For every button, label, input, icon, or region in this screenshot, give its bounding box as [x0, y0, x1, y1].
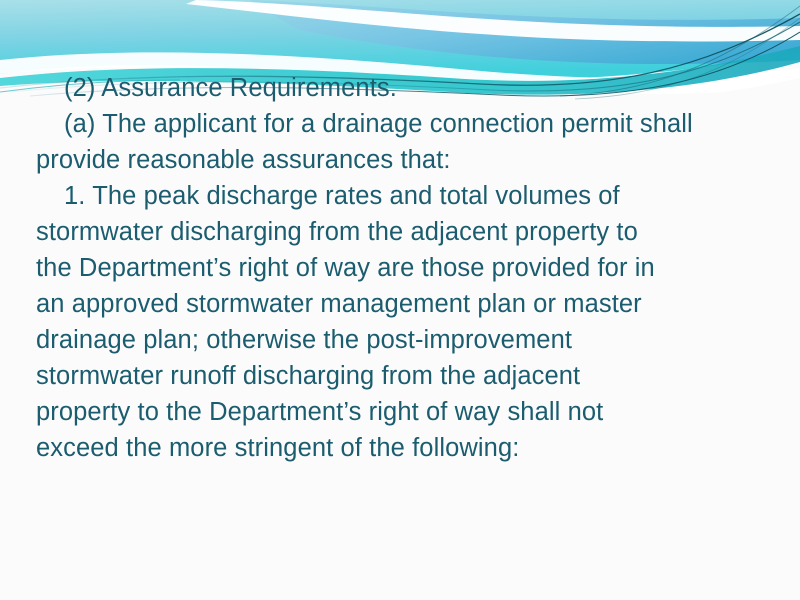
slide-body-text: (2) Assurance Requirements. (a) The appl…: [36, 70, 780, 466]
slide-canvas: (2) Assurance Requirements. (a) The appl…: [0, 0, 800, 600]
body-line: (a) The applicant for a drainage connect…: [36, 106, 780, 142]
body-line: stormwater runoff discharging from the a…: [36, 358, 780, 394]
body-line: drainage plan; otherwise the post-improv…: [36, 322, 780, 358]
body-line: (2) Assurance Requirements.: [36, 70, 780, 106]
body-line: an approved stormwater management plan o…: [36, 286, 780, 322]
body-line: property to the Department’s right of wa…: [36, 394, 780, 430]
body-line: the Department’s right of way are those …: [36, 250, 780, 286]
body-line: 1. The peak discharge rates and total vo…: [36, 178, 780, 214]
body-line: exceed the more stringent of the followi…: [36, 430, 780, 466]
body-line: provide reasonable assurances that:: [36, 142, 780, 178]
body-line: stormwater discharging from the adjacent…: [36, 214, 780, 250]
